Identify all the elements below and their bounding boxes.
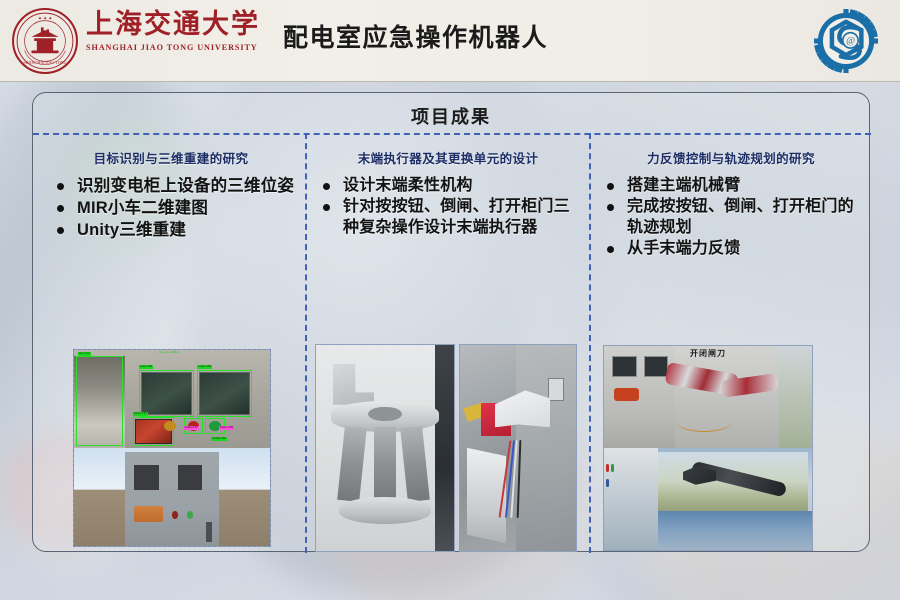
- list-item: 针对按按钮、倒闸、打开柜门三种复杂操作设计末端执行器: [321, 197, 583, 238]
- lab-logo-at-glyph: @: [846, 36, 855, 47]
- column-1-bullet-list: 识别变电柜上设备的三维位姿 MIR小车二维建图 Unity三维重建: [37, 176, 305, 241]
- panel-lamp: [172, 511, 178, 519]
- detection-label: button 0.87: [184, 426, 199, 430]
- indicator-lamp: [606, 464, 609, 472]
- effector-base: [467, 448, 506, 543]
- photo-unity-reconstruction: [74, 448, 270, 546]
- photo-edge-shadow: [435, 345, 454, 551]
- panel-switch-block: [134, 506, 162, 523]
- gripper-finger: [374, 427, 396, 501]
- photo-teleoperation-experiments: 开闭闸刀: [603, 345, 813, 551]
- column-2-bullet-list: 设计末端柔性机构 针对按按钮、倒闸、打开柜门三种复杂操作设计末端执行器: [307, 176, 589, 238]
- lab-gear-logo-icon: @: [814, 9, 878, 73]
- detection-box: [139, 370, 194, 417]
- sjtu-wordmark: 上海交通大学 SHANGHAI JIAO TONG UNIVERSITY: [86, 10, 276, 72]
- page-title: 配电室应急操作机器人: [283, 18, 548, 54]
- panel-lamp: [187, 511, 193, 519]
- slide-header: ✦ ✦ ✦ SHANGHAI JIAO TONG 上海交通大学 SHANGHAI…: [0, 0, 900, 82]
- meter-gauge: [612, 356, 637, 376]
- detection-label: door 0.62: [78, 352, 91, 356]
- indicator-lamp: [611, 464, 614, 472]
- door-handle-slot: [548, 378, 564, 401]
- column-3-heading: 力反馈控制与轨迹规划的研究: [591, 148, 871, 167]
- panel-display: [134, 465, 158, 490]
- list-item: 完成按按钮、倒闸、打开柜门的轨迹规划: [605, 197, 865, 238]
- detection-label: handle 0.80: [211, 437, 227, 441]
- slide-root: ✦ ✦ ✦ SHANGHAI JIAO TONG 上海交通大学 SHANGHAI…: [0, 0, 900, 600]
- column-1-heading: 目标识别与三维重建的研究: [37, 148, 305, 167]
- red-knob: [614, 388, 639, 401]
- list-item: 设计末端柔性机构: [321, 176, 583, 196]
- svg-text:✦ ✦ ✦: ✦ ✦ ✦: [38, 16, 52, 22]
- detection-box: [197, 370, 252, 417]
- university-name-en: SHANGHAI JIAO TONG UNIVERSITY: [86, 43, 276, 52]
- sjtu-seal-icon: ✦ ✦ ✦ SHANGHAI JIAO TONG: [11, 7, 79, 75]
- column-target-recognition: 目标识别与三维重建的研究 识别变电柜上设备的三维位姿 MIR小车二维建图 Uni…: [37, 139, 305, 553]
- column-force-feedback-planning: 力反馈控制与轨迹规划的研究 搭建主端机械臂 完成按按钮、倒闸、打开柜门的轨迹规划…: [591, 139, 871, 553]
- section-title: 项目成果: [33, 103, 869, 129]
- column-3-bullet-list: 搭建主端机械臂 完成按按钮、倒闸、打开柜门的轨迹规划 从手末端力反馈: [591, 176, 871, 260]
- list-item: 搭建主端机械臂: [605, 176, 865, 196]
- photo-flexible-gripper-mechanism: [315, 344, 455, 552]
- horizontal-divider: [33, 133, 871, 135]
- control-panel: [604, 448, 658, 550]
- svg-text:SHANGHAI JIAO TONG: SHANGHAI JIAO TONG: [23, 60, 66, 65]
- photo-robot-arm-operating-switch: 开闭闸刀: [604, 346, 812, 448]
- orange-cable: [675, 409, 733, 431]
- panel-handle: [206, 522, 212, 543]
- content-frame: 项目成果 目标识别与三维重建的研究 识别变电柜上设备的三维位姿 MIR小车二维建…: [32, 92, 870, 552]
- photo-door-opening-end-effector: [459, 344, 577, 552]
- list-item: Unity三维重建: [55, 220, 299, 241]
- detection-box: [133, 417, 174, 446]
- detection-fps-label: fine_job 1.088ms: [158, 351, 180, 355]
- column-2-heading: 末端执行器及其更换单元的设计: [307, 148, 589, 167]
- list-item: 从手末端力反馈: [605, 239, 865, 259]
- lower-plate: [339, 497, 430, 524]
- meter-gauge: [644, 356, 669, 376]
- panel-display: [178, 465, 202, 490]
- photo-object-detection: meter 0.84 meter 0.84 switch 0.91 button…: [74, 350, 270, 448]
- column-end-effector-design: 末端执行器及其更换单元的设计 设计末端柔性机构 针对按按钮、倒闸、打开柜门三种复…: [307, 139, 589, 553]
- university-name-cn: 上海交通大学: [86, 10, 276, 40]
- window-view: [779, 346, 812, 448]
- detection-label: meter 0.84: [139, 365, 153, 369]
- detection-label: button 0.82: [219, 426, 234, 430]
- list-item: MIR小车二维建图: [55, 198, 299, 219]
- detection-label: meter 0.84: [197, 365, 211, 369]
- cabin-console: [658, 511, 812, 550]
- reconstructed-cabinet: [125, 452, 219, 546]
- photo-master-arm-cabin: [604, 448, 812, 550]
- photo-detection-and-reconstruction: meter 0.84 meter 0.84 switch 0.91 button…: [73, 349, 271, 547]
- indicator-lamp: [606, 479, 609, 487]
- center-hole: [368, 407, 401, 421]
- photo-caption: 开闭闸刀: [604, 348, 812, 359]
- list-item: 识别变电柜上设备的三维位姿: [55, 176, 299, 197]
- cabinet-door: [516, 345, 576, 551]
- detection-label: switch 0.91: [133, 412, 148, 416]
- detection-box: [76, 356, 123, 446]
